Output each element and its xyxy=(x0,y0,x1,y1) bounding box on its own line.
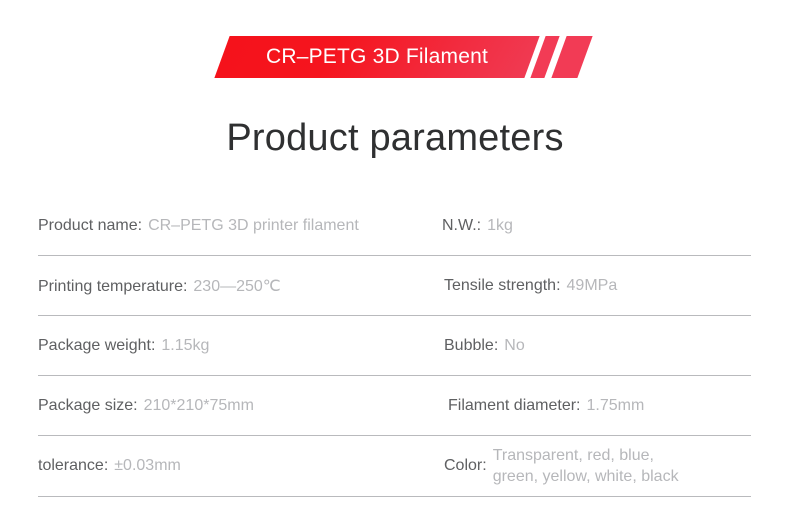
spec-label: tolerance: xyxy=(38,457,108,475)
spec-value: 49MPa xyxy=(567,277,618,295)
spec-table: Product name: CR–PETG 3D printer filamen… xyxy=(38,196,751,497)
spec-value-line: green, yellow, white, black xyxy=(493,466,679,487)
spec-value: 230—250℃ xyxy=(193,276,280,296)
spec-label: Printing temperature: xyxy=(38,278,187,296)
spec-value: CR–PETG 3D printer filament xyxy=(148,217,359,235)
banner: CR–PETG 3D Filament xyxy=(0,36,790,78)
table-row: Printing temperature: 230—250℃ Tensile s… xyxy=(38,256,751,316)
spec-label: Package weight: xyxy=(38,337,155,355)
table-row: Product name: CR–PETG 3D printer filamen… xyxy=(38,196,751,256)
spec-cell-filament-diameter: Filament diameter: 1.75mm xyxy=(438,397,751,415)
spec-value: 1.15kg xyxy=(161,337,209,355)
page-title: Product parameters xyxy=(0,117,790,160)
spec-label: Product name: xyxy=(38,217,142,235)
spec-cell-tolerance: tolerance: ±0.03mm xyxy=(38,457,438,475)
spec-cell-package-size: Package size: 210*210*75mm xyxy=(38,397,438,415)
product-parameters-page: CR–PETG 3D Filament Product parameters P… xyxy=(0,0,790,529)
spec-cell-tensile-strength: Tensile strength: 49MPa xyxy=(438,277,751,295)
spec-cell-bubble: Bubble: No xyxy=(438,337,751,355)
table-row: Package weight: 1.15kg Bubble: No xyxy=(38,316,751,376)
banner-accent-stripe-2 xyxy=(551,36,592,78)
banner-title: CR–PETG 3D Filament xyxy=(222,36,532,78)
spec-label: Tensile strength: xyxy=(444,277,561,295)
spec-value-line: Transparent, red, blue, xyxy=(493,445,679,466)
spec-cell-product-name: Product name: CR–PETG 3D printer filamen… xyxy=(38,217,438,235)
spec-label: Filament diameter: xyxy=(448,397,581,415)
spec-value: 210*210*75mm xyxy=(144,397,254,415)
spec-label: N.W.: xyxy=(442,217,481,235)
spec-cell-package-weight: Package weight: 1.15kg xyxy=(38,337,438,355)
spec-cell-net-weight: N.W.: 1kg xyxy=(438,217,751,235)
table-row: tolerance: ±0.03mm Color: Transparent, r… xyxy=(38,436,751,497)
spec-label: Color: xyxy=(444,457,487,475)
spec-cell-printing-temperature: Printing temperature: 230—250℃ xyxy=(38,276,438,296)
spec-cell-color: Color: Transparent, red, blue, green, ye… xyxy=(438,445,751,487)
table-row: Package size: 210*210*75mm Filament diam… xyxy=(38,376,751,436)
spec-value: ±0.03mm xyxy=(114,457,181,475)
spec-label: Bubble: xyxy=(444,337,498,355)
spec-value-multiline: Transparent, red, blue, green, yellow, w… xyxy=(493,445,679,487)
spec-value: 1kg xyxy=(487,217,513,235)
spec-value: 1.75mm xyxy=(587,397,645,415)
spec-value: No xyxy=(504,337,524,355)
spec-label: Package size: xyxy=(38,397,138,415)
